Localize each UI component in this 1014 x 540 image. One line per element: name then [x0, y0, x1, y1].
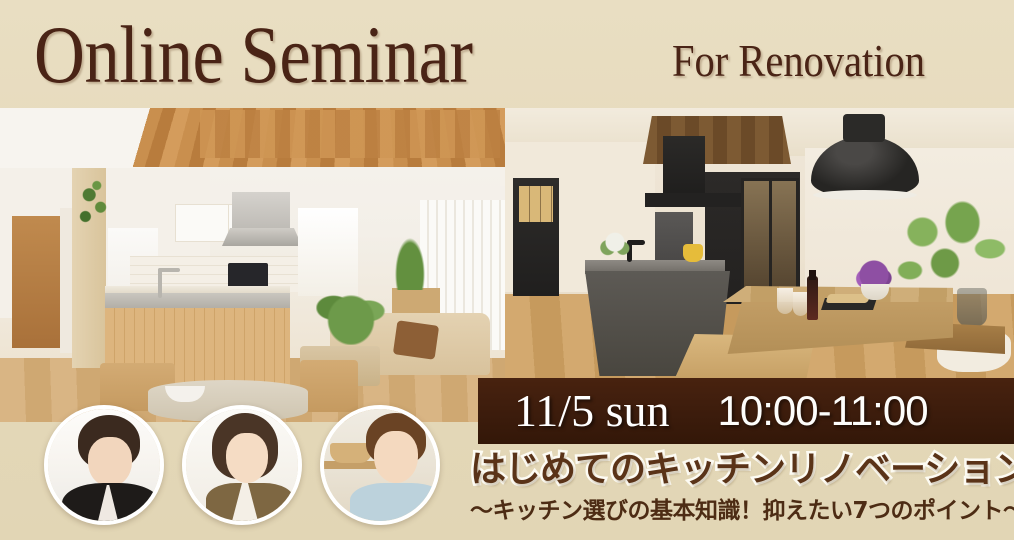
page-subtitle: For Renovation	[672, 38, 925, 84]
seminar-headline: はじめてのキッチンリノベーション	[470, 448, 1014, 492]
presenter-portraits	[0, 405, 470, 540]
seminar-time: 10:00-11:00	[717, 390, 927, 432]
avatar	[44, 405, 164, 525]
page-title: Online Seminar	[34, 14, 473, 96]
kitchen-photo-right	[505, 108, 1014, 378]
seminar-headline-block: はじめてのキッチンリノベーション 〜キッチン選びの基本知識！抑えたい7つのポイン…	[470, 444, 1014, 540]
poster-header: Online Seminar For Renovation	[0, 0, 1014, 108]
kitchen-photo-left	[0, 108, 505, 422]
seminar-poster: Online Seminar For Renovation	[0, 0, 1014, 540]
seminar-date: 11/5 sun	[514, 388, 669, 434]
avatar	[320, 405, 440, 525]
date-time-banner: 11/5 sun 10:00-11:00	[478, 378, 1014, 444]
avatar	[182, 405, 302, 525]
seminar-subheadline: 〜キッチン選びの基本知識！抑えたい7つのポイント〜	[470, 496, 1014, 526]
photo-strip	[0, 108, 1014, 422]
